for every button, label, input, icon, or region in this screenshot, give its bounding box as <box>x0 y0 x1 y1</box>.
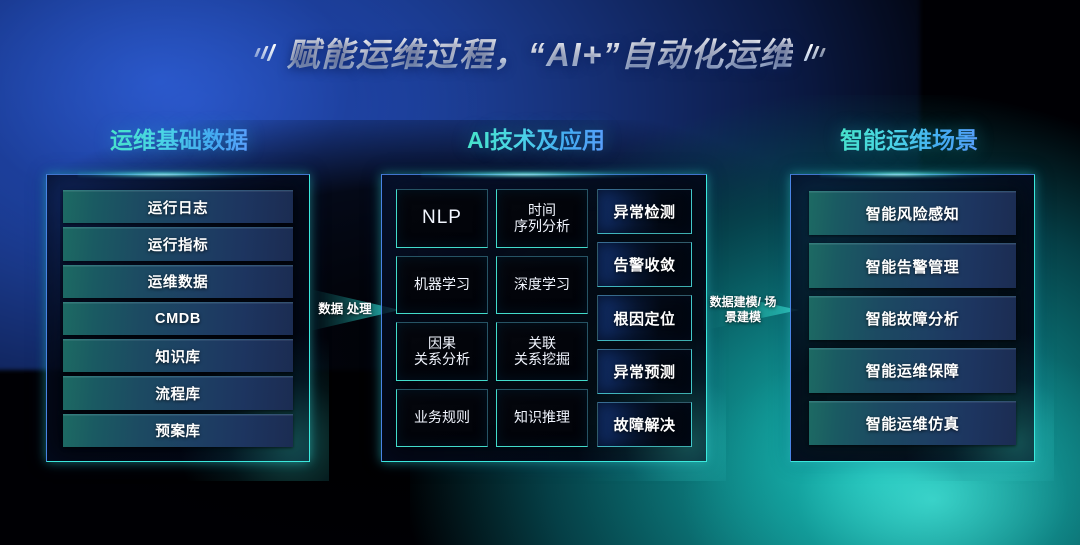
arrow-label-line: 处理 <box>347 302 372 316</box>
grid-item-line: 因果 <box>414 335 470 352</box>
panel-scenarios: 智能风险感知 智能告警管理 智能故障分析 智能运维保障 智能运维仿真 <box>790 174 1035 462</box>
list-item[interactable]: 运行指标 <box>63 227 293 260</box>
list-item[interactable]: 智能运维保障 <box>809 348 1016 392</box>
grid-item-line: 深度学习 <box>514 276 570 293</box>
ai-application-list: 异常检测 告警收敛 根因定位 异常预测 故障解决 <box>597 189 692 447</box>
grid-item-line: 时间 <box>514 202 570 219</box>
list-item[interactable]: 智能故障分析 <box>809 296 1016 340</box>
list-item[interactable]: 流程库 <box>63 376 293 409</box>
grid-item-line: 关系挖掘 <box>514 351 570 368</box>
grid-item-line: 关系分析 <box>414 351 470 368</box>
list-item[interactable]: 运行日志 <box>63 190 293 223</box>
slash-marks-icon-left <box>256 37 273 67</box>
list-item[interactable]: 异常检测 <box>597 189 692 234</box>
grid-item-line: NLP <box>422 207 462 229</box>
slash-marks-icon-right <box>807 37 824 67</box>
list-item[interactable]: 智能运维仿真 <box>809 401 1016 445</box>
list-item[interactable]: 智能风险感知 <box>809 191 1016 235</box>
list-item[interactable]: 异常预测 <box>597 349 692 394</box>
list-item[interactable]: 告警收敛 <box>597 242 692 287</box>
list-item[interactable]: 知识库 <box>63 339 293 372</box>
grid-item[interactable]: 时间 序列分析 <box>496 189 588 248</box>
grid-item-line: 机器学习 <box>414 276 470 293</box>
column-header-base-data: 运维基础数据 <box>110 121 248 155</box>
arrow-label-line: 数据建模/ <box>710 295 761 309</box>
grid-item-line: 关联 <box>514 335 570 352</box>
scenario-list: 智能风险感知 智能告警管理 智能故障分析 智能运维保障 智能运维仿真 <box>791 175 1034 461</box>
grid-item-line: 业务规则 <box>414 409 470 426</box>
slide-canvas: 赋能运维过程，“AI+”自动化运维 运维基础数据 AI技术及应用 智能运维场景 … <box>0 0 1080 545</box>
right-arrow-icon-modeling: 数据建模/ 场景建模 <box>703 278 799 342</box>
grid-item-line: 知识推理 <box>514 409 570 426</box>
panel-base-data: 运行日志 运行指标 运维数据 CMDB 知识库 流程库 预案库 <box>46 174 310 462</box>
list-item[interactable]: 根因定位 <box>597 295 692 340</box>
grid-item[interactable]: 深度学习 <box>496 256 588 315</box>
grid-item-line: 序列分析 <box>514 218 570 235</box>
base-data-list: 运行日志 运行指标 运维数据 CMDB 知识库 流程库 预案库 <box>47 175 309 461</box>
page-title: 赋能运维过程，“AI+”自动化运维 <box>287 28 794 76</box>
panel-ai-tech: NLP 时间 序列分析 机器学习 深度学习 因果 关系 <box>381 174 707 462</box>
column-header-ai-tech: AI技术及应用 <box>467 121 605 155</box>
list-item[interactable]: 运维数据 <box>63 265 293 298</box>
arrow-label: 数据 处理 <box>316 302 374 318</box>
list-item[interactable]: 预案库 <box>63 414 293 447</box>
slide-title-row: 赋能运维过程，“AI+”自动化运维 <box>0 26 1080 78</box>
grid-item[interactable]: NLP <box>396 189 488 248</box>
ai-tech-content: NLP 时间 序列分析 机器学习 深度学习 因果 关系 <box>382 175 706 461</box>
grid-item[interactable]: 业务规则 <box>396 389 488 448</box>
grid-item[interactable]: 机器学习 <box>396 256 488 315</box>
list-item[interactable]: 智能告警管理 <box>809 243 1016 287</box>
column-header-scenarios: 智能运维场景 <box>840 121 978 155</box>
grid-item[interactable]: 因果 关系分析 <box>396 322 488 381</box>
ai-technique-grid: NLP 时间 序列分析 机器学习 深度学习 因果 关系 <box>396 189 588 447</box>
grid-item[interactable]: 知识推理 <box>496 389 588 448</box>
list-item[interactable]: 故障解决 <box>597 402 692 447</box>
list-item[interactable]: CMDB <box>63 302 293 335</box>
arrow-label-line: 数据 <box>318 302 343 316</box>
arrow-label: 数据建模/ 场景建模 <box>706 295 780 325</box>
grid-item[interactable]: 关联 关系挖掘 <box>496 322 588 381</box>
